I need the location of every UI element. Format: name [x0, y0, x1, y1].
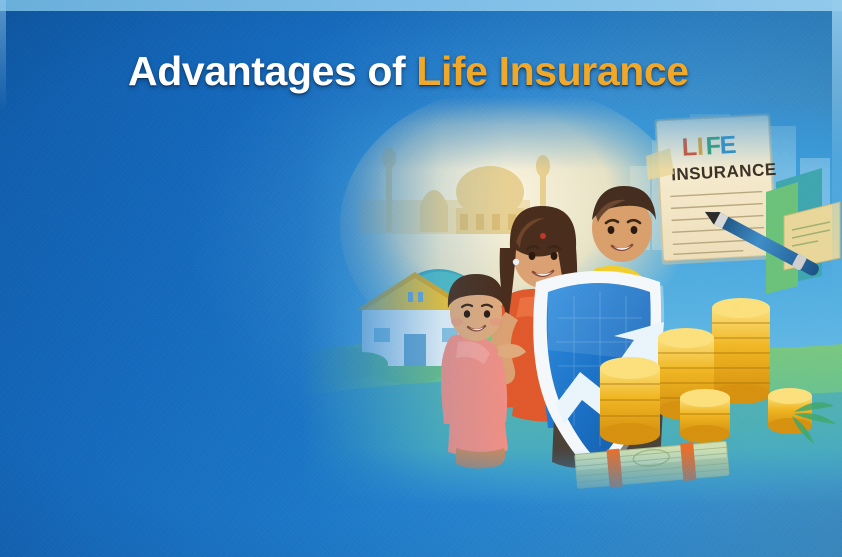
coin-stack-3 [600, 357, 660, 445]
coin-stack-1 [712, 298, 770, 404]
doc-heading-E: E [719, 131, 737, 160]
coin-stack-4 [680, 389, 730, 443]
bindi [540, 233, 546, 239]
life-insurance-banner: L I F E INSURANCE [0, 0, 842, 557]
title-accent: Life Insurance [416, 48, 688, 94]
frame-left-edge [0, 0, 6, 557]
title-primary: Advantages of [128, 48, 405, 94]
frame-right-edge [832, 0, 842, 557]
coin-stack-5 [768, 388, 812, 434]
frame-top-edge [0, 0, 842, 11]
doc-heading-L: L [681, 133, 698, 162]
illustration-canvas: L I F E INSURANCE [300, 96, 842, 506]
page-title: Advantages of Life Insurance [128, 48, 689, 95]
earring [513, 259, 519, 265]
doc-heading-I: I [696, 133, 704, 161]
family-life-insurance-illustration: L I F E INSURANCE [300, 96, 842, 506]
